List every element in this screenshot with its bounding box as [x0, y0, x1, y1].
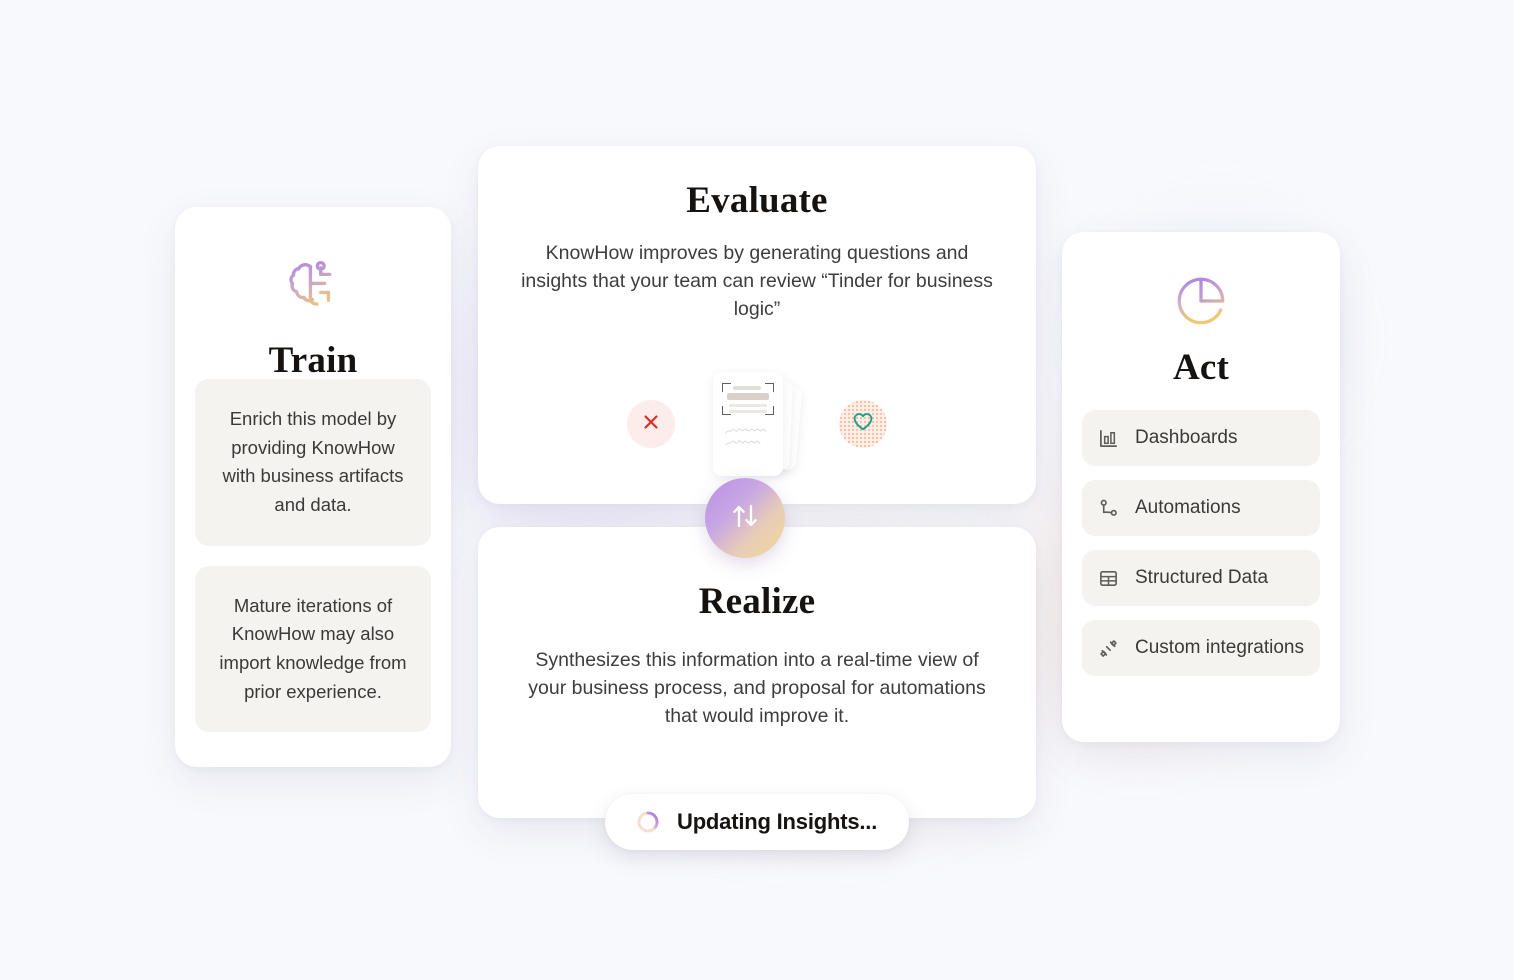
act-item-structured-data[interactable]: Structured Data [1082, 550, 1320, 606]
updating-insights-label: Updating Insights... [677, 809, 877, 835]
deck-card-front [713, 372, 783, 476]
train-title: Train [269, 342, 358, 379]
train-text-box-2: Mature iterations of KnowHow may also im… [195, 566, 431, 733]
act-card: Act Dashboards Automations [1062, 232, 1340, 742]
document-card-stack-icon[interactable] [711, 372, 803, 476]
train-text-box-1: Enrich this model by providing KnowHow w… [195, 379, 431, 546]
act-item-label: Structured Data [1135, 566, 1268, 590]
act-item-list: Dashboards Automations Structured Da [1082, 410, 1320, 676]
act-title: Act [1173, 349, 1229, 386]
realize-body-text: Synthesizes this information into a real… [522, 646, 992, 730]
act-item-label: Custom integrations [1135, 636, 1304, 660]
brain-circuit-icon [282, 255, 344, 322]
loading-spinner-icon [635, 809, 661, 835]
evaluate-body-text: KnowHow improves by generating questions… [512, 239, 1002, 323]
reject-button[interactable] [627, 400, 675, 448]
doc-line [727, 393, 769, 400]
heart-icon [852, 411, 874, 437]
act-item-label: Automations [1135, 496, 1241, 520]
act-item-custom-integrations[interactable]: Custom integrations [1082, 620, 1320, 676]
realize-card: Realize Synthesizes this information int… [478, 527, 1036, 818]
evaluate-swipe-row [478, 364, 1036, 484]
plug-connect-icon [1098, 638, 1120, 659]
table-grid-icon [1098, 568, 1120, 589]
git-branch-icon [1098, 498, 1120, 519]
doc-line [729, 404, 767, 407]
bar-chart-icon [1098, 428, 1120, 449]
like-button[interactable] [839, 400, 887, 448]
evaluate-title: Evaluate [512, 182, 1002, 219]
act-item-label: Dashboards [1135, 426, 1237, 450]
doc-squiggle [725, 440, 771, 448]
doc-line [733, 386, 761, 390]
pie-chart-icon [1172, 272, 1230, 335]
train-card: Train Enrich this model by providing Kno… [175, 207, 451, 767]
realize-title: Realize [522, 583, 992, 620]
updating-insights-pill[interactable]: Updating Insights... [605, 794, 909, 850]
swap-arrows-button[interactable] [705, 478, 785, 558]
evaluate-card: Evaluate KnowHow improves by generating … [478, 146, 1036, 504]
act-item-dashboards[interactable]: Dashboards [1082, 410, 1320, 466]
arrows-up-down-icon [727, 498, 763, 539]
act-item-automations[interactable]: Automations [1082, 480, 1320, 536]
doc-line [729, 410, 767, 413]
close-x-icon [641, 412, 661, 437]
doc-squiggle [725, 428, 771, 436]
